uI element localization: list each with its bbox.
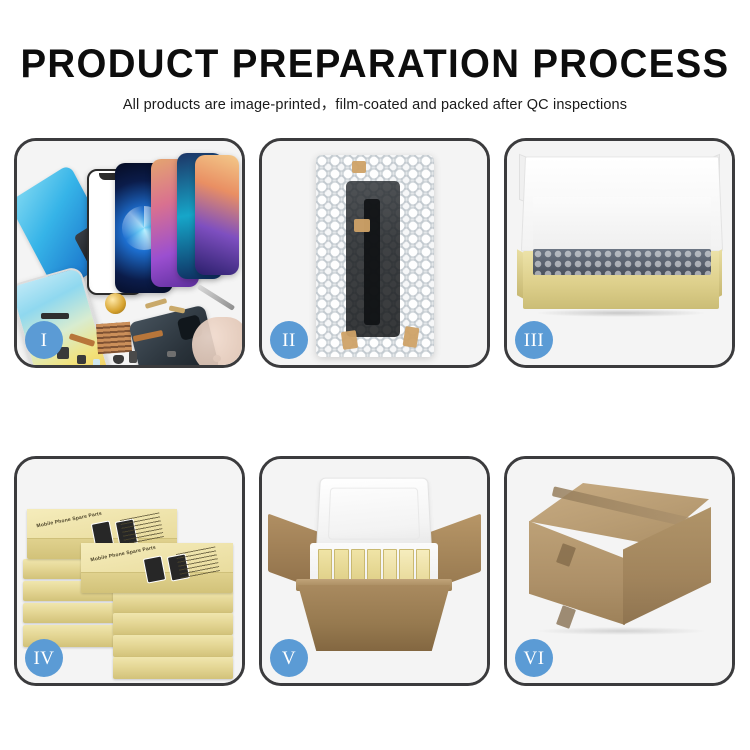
step-badge-3: III xyxy=(515,321,553,359)
tape-piece-4 xyxy=(403,326,420,348)
product-preparation-infographic: PRODUCT PREPARATION PROCESS All products… xyxy=(0,0,750,750)
bubble-wrap-bag-image xyxy=(316,155,434,357)
stacked-box xyxy=(113,657,233,679)
foam-box-lid-image xyxy=(316,478,432,551)
tape-piece-2 xyxy=(354,219,370,232)
process-steps-grid: I II xyxy=(14,138,736,686)
header: PRODUCT PREPARATION PROCESS All products… xyxy=(0,0,750,113)
tape-piece-3 xyxy=(341,330,358,350)
process-step-1: I xyxy=(14,138,245,368)
process-step-5: V xyxy=(259,456,490,686)
small-part-4 xyxy=(129,351,137,363)
process-step-3: III xyxy=(504,138,735,368)
stacked-box xyxy=(113,591,233,613)
gold-speaker-part-image xyxy=(105,293,126,314)
small-part-2 xyxy=(77,355,86,364)
carton-shadow xyxy=(537,627,705,635)
step-numeral-5: V xyxy=(282,649,296,668)
step-badge-2: II xyxy=(270,321,308,359)
part-bar-1 xyxy=(41,313,69,319)
open-carton-image xyxy=(298,585,450,651)
small-part-6 xyxy=(93,359,100,365)
wrapped-screen-strip xyxy=(364,199,380,325)
step-numeral-4: IV xyxy=(33,649,54,668)
part-bar-2 xyxy=(145,298,168,309)
step-badge-1: I xyxy=(25,321,63,359)
carton-tape-patch-2 xyxy=(556,605,576,629)
orange-wallpaper-screen-image xyxy=(195,155,239,275)
step-numeral-1: I xyxy=(41,331,48,350)
bubble-wrapped-contents-image xyxy=(533,249,711,275)
small-part-3 xyxy=(113,355,124,364)
stacked-box xyxy=(113,635,233,657)
stacked-box-top-front: Mobile Phone Spare Parts xyxy=(81,543,233,593)
stacked-box xyxy=(23,603,127,623)
page-title: PRODUCT PREPARATION PROCESS xyxy=(15,44,735,84)
page-subtitle: All products are image-printed，film-coat… xyxy=(0,98,750,113)
step-badge-6: VI xyxy=(515,639,553,677)
tape-piece-1 xyxy=(352,161,366,173)
process-step-2: II xyxy=(259,138,490,368)
process-step-4: Mobile Phone Spare Parts Mobile Phone Sp… xyxy=(14,456,245,686)
stacked-box xyxy=(113,613,233,635)
box-shadow xyxy=(535,309,707,317)
step-badge-5: V xyxy=(270,639,308,677)
hand-image xyxy=(192,317,242,365)
chip-grid-part-image xyxy=(96,322,132,354)
small-part-7 xyxy=(167,351,176,357)
step-badge-4: IV xyxy=(25,639,63,677)
step-numeral-3: III xyxy=(524,331,544,350)
step-numeral-6: VI xyxy=(523,649,544,668)
process-step-6: VI xyxy=(504,456,735,686)
step-numeral-2: II xyxy=(282,331,296,350)
